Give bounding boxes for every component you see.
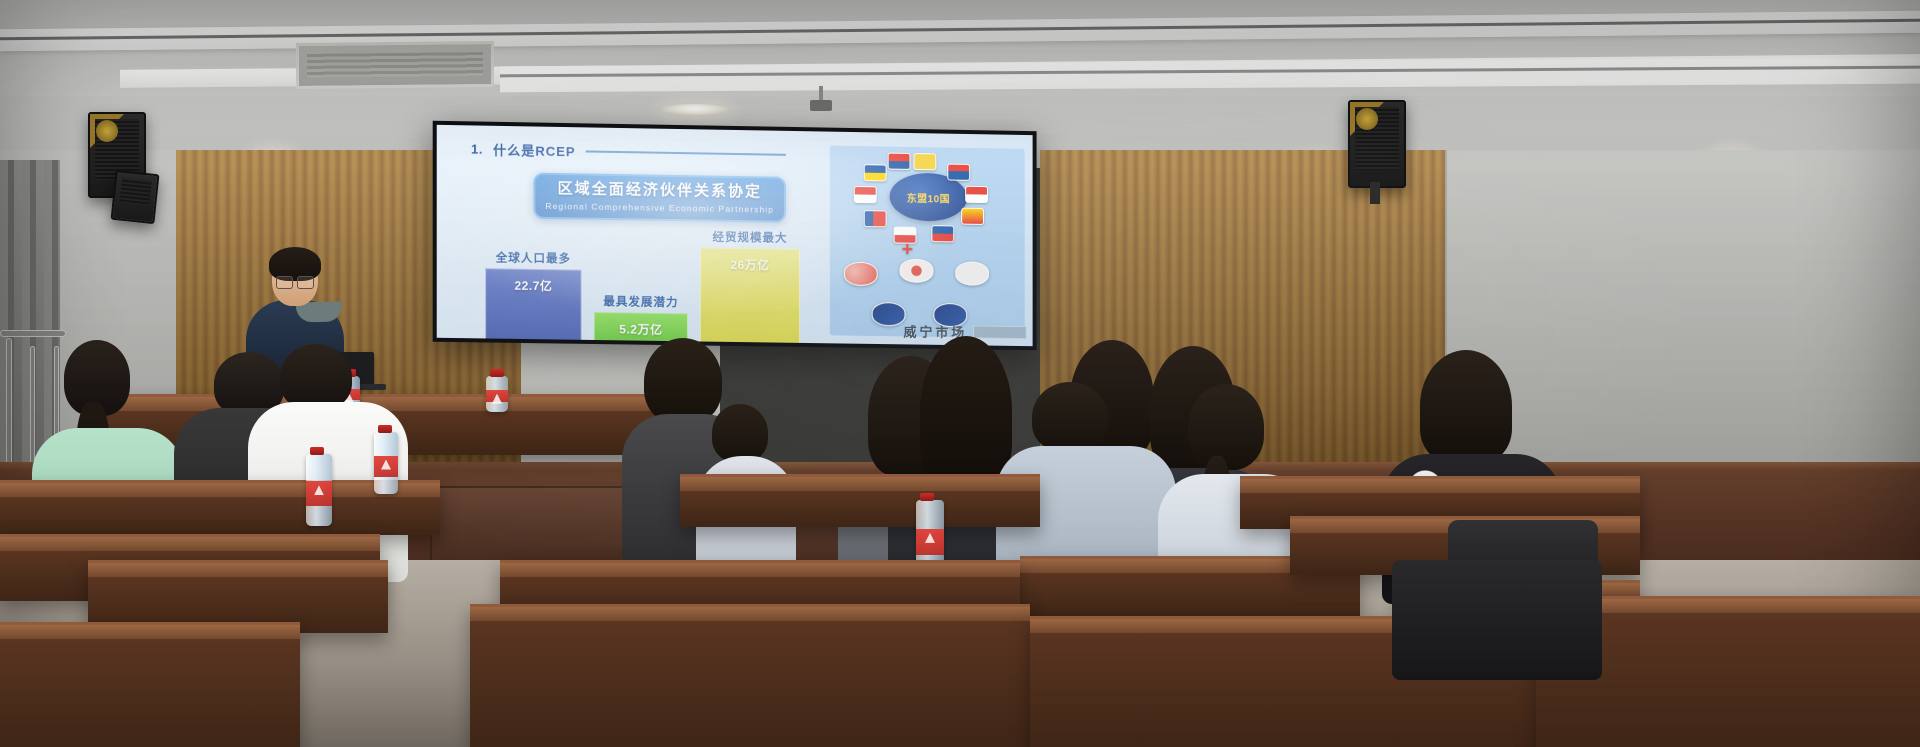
slide-footer-bar [973,325,1027,339]
presentation-slide: 1. 什么是RCEP 区域全面经济伙伴关系协定 Regional Compreh… [437,125,1033,346]
foreground-desk-left [0,622,300,747]
slide-headline-rule [586,150,786,155]
projection-screen: 1. 什么是RCEP 区域全面经济伙伴关系协定 Regional Compreh… [433,121,1037,350]
bar-population: 22.7亿 [485,268,582,342]
bar-chart: 全球人口最多 22.7亿 最具发展潜力 5.2万亿 经贸规模最大 26万亿 [477,222,808,345]
bar-caption-trade: 经贸规模最大 [712,229,787,246]
slide-title-chinese: 区域全面经济伙伴关系协定 [558,181,762,201]
asean-flag-cluster: 东盟10国 [854,152,1005,242]
flag-korea-icon: 韩国 [955,261,989,285]
speaker-bracket-right [1370,182,1380,204]
flag-thailand-icon [931,225,954,242]
slide-headline-number: 1. [471,141,483,156]
audience-desk-row3-mid [680,474,1040,527]
flag-malaysia-icon [864,164,887,181]
ceiling-air-vent-icon [296,41,494,89]
flag-philippines-icon [864,210,887,227]
flag-indonesia-icon [965,186,988,203]
chair-back-right [1392,560,1602,680]
ceiling-light-strip-1 [0,11,1920,51]
presenter-glasses-icon [276,276,314,287]
water-bottle-2 [486,376,508,412]
flag-myanmar-icon [854,186,877,203]
slide-title-english: Regional Comprehensive Economic Partners… [545,201,774,215]
flag-cambodia-icon [888,153,911,170]
slide-headline: 1. 什么是RCEP [471,139,786,163]
flag-china-icon: 中国 [844,262,878,286]
flag-australia-icon: 澳大利亚 [872,302,906,326]
asean-flag-panel: 东盟10国 + 中国 [830,146,1025,339]
bar-caption-population: 全球人口最多 [496,249,571,266]
asean-hub-label: 东盟10国 [907,189,950,205]
water-bottle-4 [374,432,398,494]
conference-room-photo: 1. 什么是RCEP 区域全面经济伙伴关系协定 Regional Compreh… [0,0,1920,747]
flag-brunei-icon [913,153,936,170]
bar-caption-potential: 最具发展潜力 [603,293,678,310]
bar-value-population: 22.7亿 [514,277,552,295]
wall-speaker-right [1348,100,1406,188]
flag-laos-icon [947,164,970,181]
bar-value-trade: 26万亿 [730,256,769,274]
bar-value-potential: 5.2万亿 [619,320,662,338]
foreground-desk-mid [470,604,1030,747]
water-bottle-3 [306,454,332,526]
flag-japan-icon: 日本 [900,259,934,283]
downlight-4 [660,104,730,116]
ceiling-sensor-icon [810,86,832,114]
bar-trade: 26万亿 [700,247,800,344]
slide-title-box: 区域全面经济伙伴关系协定 Regional Comprehensive Econ… [533,173,786,223]
flag-vietnam-icon [961,208,984,225]
slide-headline-text: 什么是RCEP [493,140,576,160]
wall-speaker-left-lower [111,170,160,224]
